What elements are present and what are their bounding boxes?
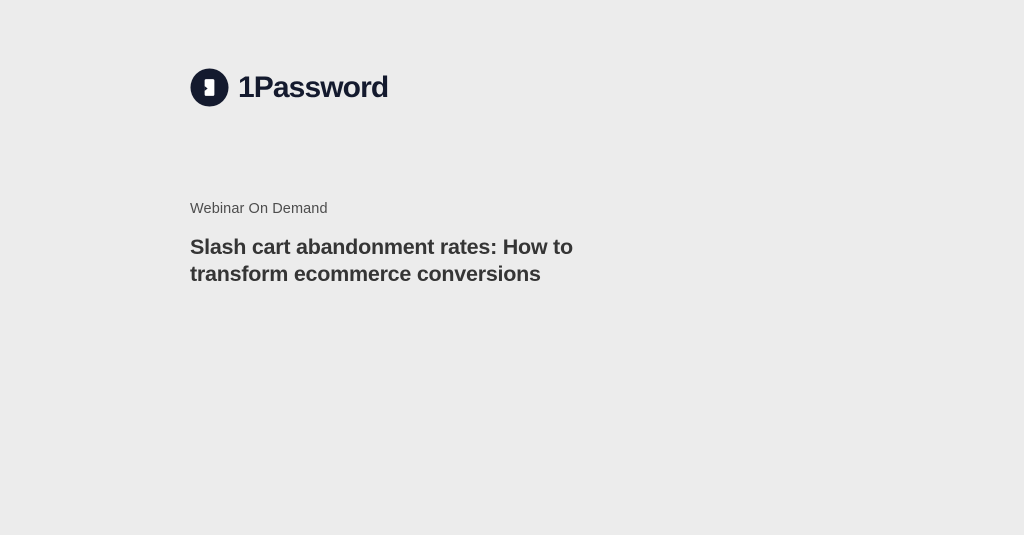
brand-lockup[interactable]: 1Password	[190, 68, 388, 107]
webinar-promo-page: 1Password Webinar On Demand Slash cart a…	[0, 0, 1024, 535]
page-title: Slash cart abandonment rates: How to tra…	[190, 234, 602, 288]
eyebrow-label: Webinar On Demand	[190, 198, 610, 220]
brand-wordmark: 1Password	[238, 73, 388, 103]
1password-keyhole-icon	[190, 68, 229, 107]
content-block: Webinar On Demand Slash cart abandonment…	[190, 198, 610, 288]
